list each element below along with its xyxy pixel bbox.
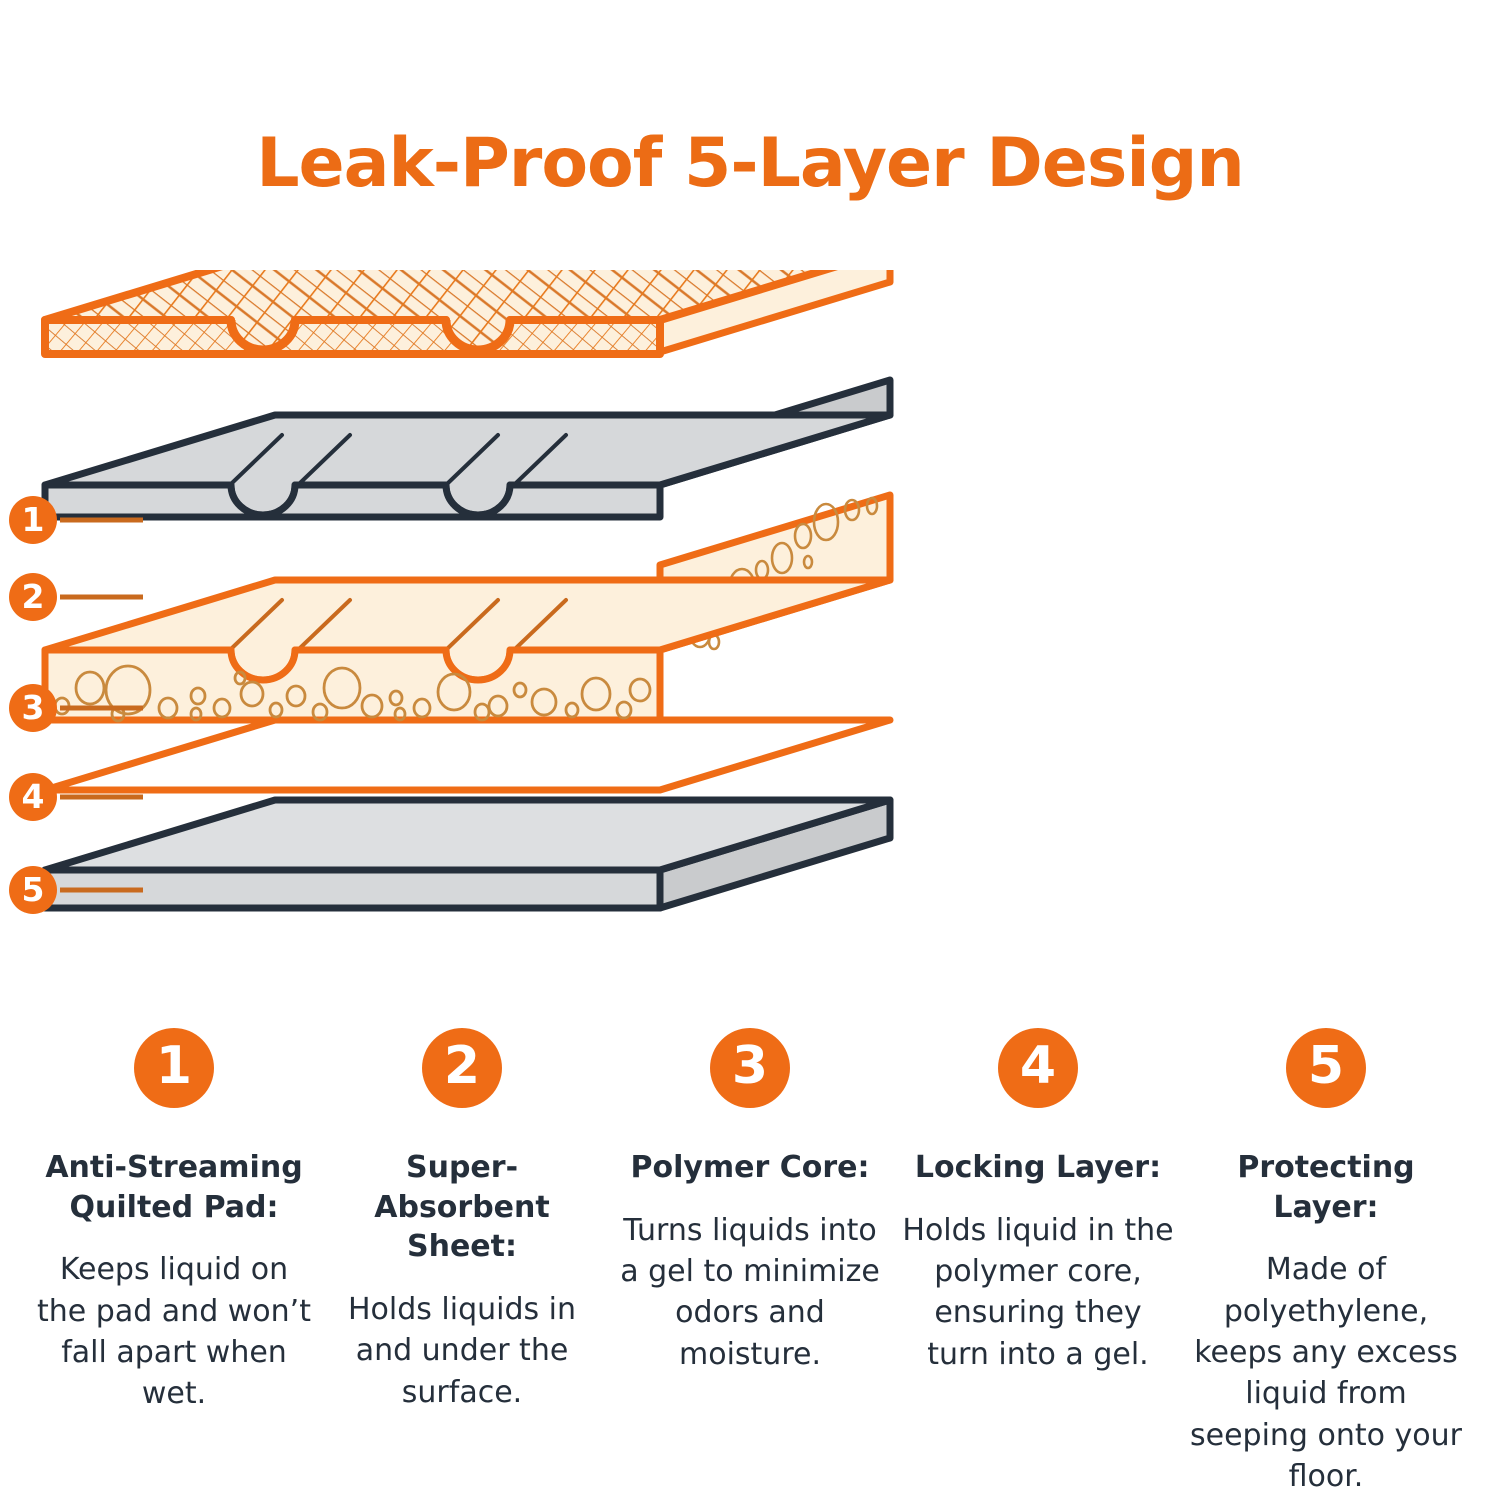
diagram-callout-2-number: 2 [22,577,45,616]
legend-item-1[interactable]: 1 Anti-Streaming Quilted Pad: Keeps liqu… [30,1028,318,1415]
diagram-layer-3-polymer-core [45,495,890,721]
diagram-callout-4-number: 4 [22,777,45,816]
diagram-callout-5-number: 5 [22,870,45,909]
legend-title-4: Locking Layer: [915,1148,1161,1188]
layer-diagram: 1 2 3 4 5 [0,270,1500,970]
diagram-callout-1-number: 1 [22,500,45,539]
legend-description-5: Made of polyethylene, keeps any excess l… [1188,1249,1464,1497]
layer-diagram-svg: 1 2 3 4 5 [0,270,1500,970]
legend-item-2[interactable]: 2 Super-Absorbent Sheet: Holds liquids i… [318,1028,606,1413]
diagram-layer-1-anti-streaming-quilted-pad [45,270,890,354]
legend-title-5: Protecting Layer: [1188,1148,1464,1227]
legend-item-3[interactable]: 3 Polymer Core: Turns liquids into a gel… [606,1028,894,1375]
diagram-callout-3-number: 3 [22,688,45,727]
legend-description-4: Holds liquid in the polymer core, ensuri… [900,1210,1176,1376]
legend-title-2: Super-Absorbent Sheet: [324,1148,600,1267]
legend-item-5[interactable]: 5 Protecting Layer: Made of polyethylene… [1182,1028,1470,1498]
diagram-callout-2[interactable]: 2 [9,573,143,621]
diagram-layer-4-locking-layer [45,720,890,790]
legend-description-3: Turns liquids into a gel to minimize odo… [612,1210,888,1376]
legend-badge-5: 5 [1286,1028,1366,1108]
legend-badge-4: 4 [998,1028,1078,1108]
legend-item-4[interactable]: 4 Locking Layer: Holds liquid in the pol… [894,1028,1182,1375]
diagram-layer-2-super-absorbent-sheet [45,380,890,517]
legend-title-3: Polymer Core: [630,1148,869,1188]
legend-description-2: Holds liquids in and under the surface. [324,1289,600,1413]
legend-title-1: Anti-Streaming Quilted Pad: [36,1148,312,1227]
legend-badge-3: 3 [710,1028,790,1108]
legend-badge-2: 2 [422,1028,502,1108]
legend-badge-1: 1 [134,1028,214,1108]
legend: 1 Anti-Streaming Quilted Pad: Keeps liqu… [30,1028,1470,1498]
legend-description-1: Keeps liquid on the pad and won’t fall a… [36,1249,312,1415]
page-title: Leak-Proof 5-Layer Design [0,124,1500,203]
diagram-layer-5-protecting-layer [45,800,890,908]
